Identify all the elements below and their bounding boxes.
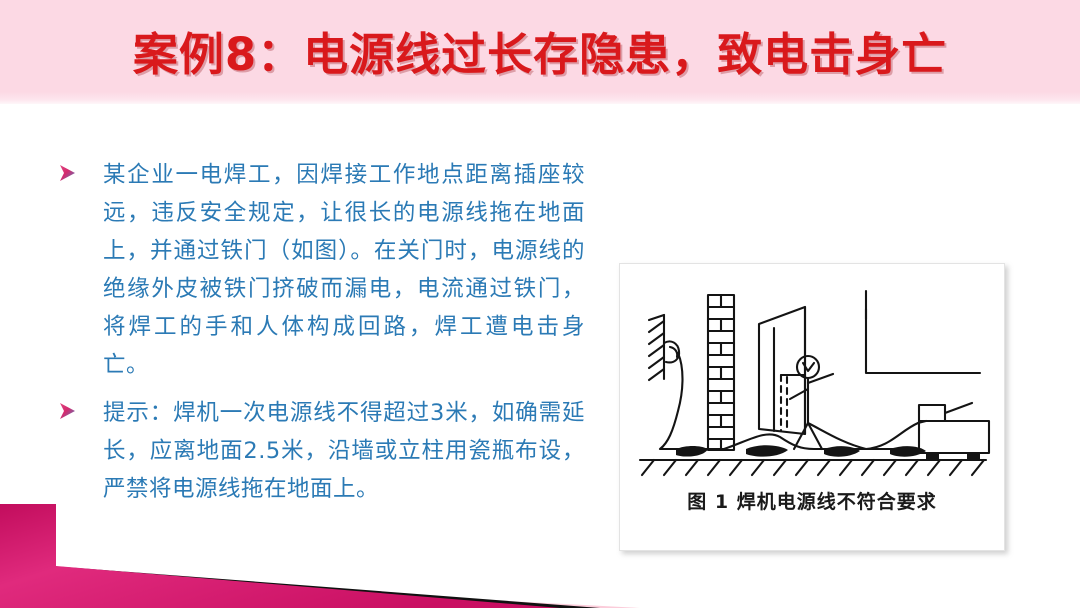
welding-machine-power-cable-illustration (628, 271, 996, 489)
slide-canvas: 案例8：电源线过长存隐患，致电击身亡 (0, 0, 1080, 608)
list-item-text: 某企业一电焊工，因焊接工作地点距离插座较远，违反安全规定，让很长的电源线拖在地面… (103, 156, 585, 384)
list-item: 某企业一电焊工，因焊接工作地点距离插座较远，违反安全规定，让很长的电源线拖在地面… (55, 156, 585, 384)
figure-inner: 图 1 焊机电源线不符合要求 (628, 271, 996, 543)
figure-caption: 图 1 焊机电源线不符合要求 (628, 487, 996, 514)
list-item: 提示：焊机一次电源线不得超过3米，如确需延长，应离地面2.5米，沿墙或立柱用瓷瓶… (55, 394, 585, 508)
page-title: 案例8：电源线过长存隐患，致电击身亡 (0, 18, 1080, 83)
bullet-list: 某企业一电焊工，因焊接工作地点距离插座较远，违反安全规定，让很长的电源线拖在地面… (55, 156, 585, 518)
figure-container: 图 1 焊机电源线不符合要求 (619, 263, 1005, 551)
slide-content: 某企业一电焊工，因焊接工作地点距离插座较远，违反安全规定，让很长的电源线拖在地面… (0, 104, 1080, 608)
arrow-bullet-icon (58, 402, 78, 420)
list-item-text: 提示：焊机一次电源线不得超过3米，如确需延长，应离地面2.5米，沿墙或立柱用瓷瓶… (103, 394, 585, 508)
arrow-bullet-icon (58, 164, 78, 182)
